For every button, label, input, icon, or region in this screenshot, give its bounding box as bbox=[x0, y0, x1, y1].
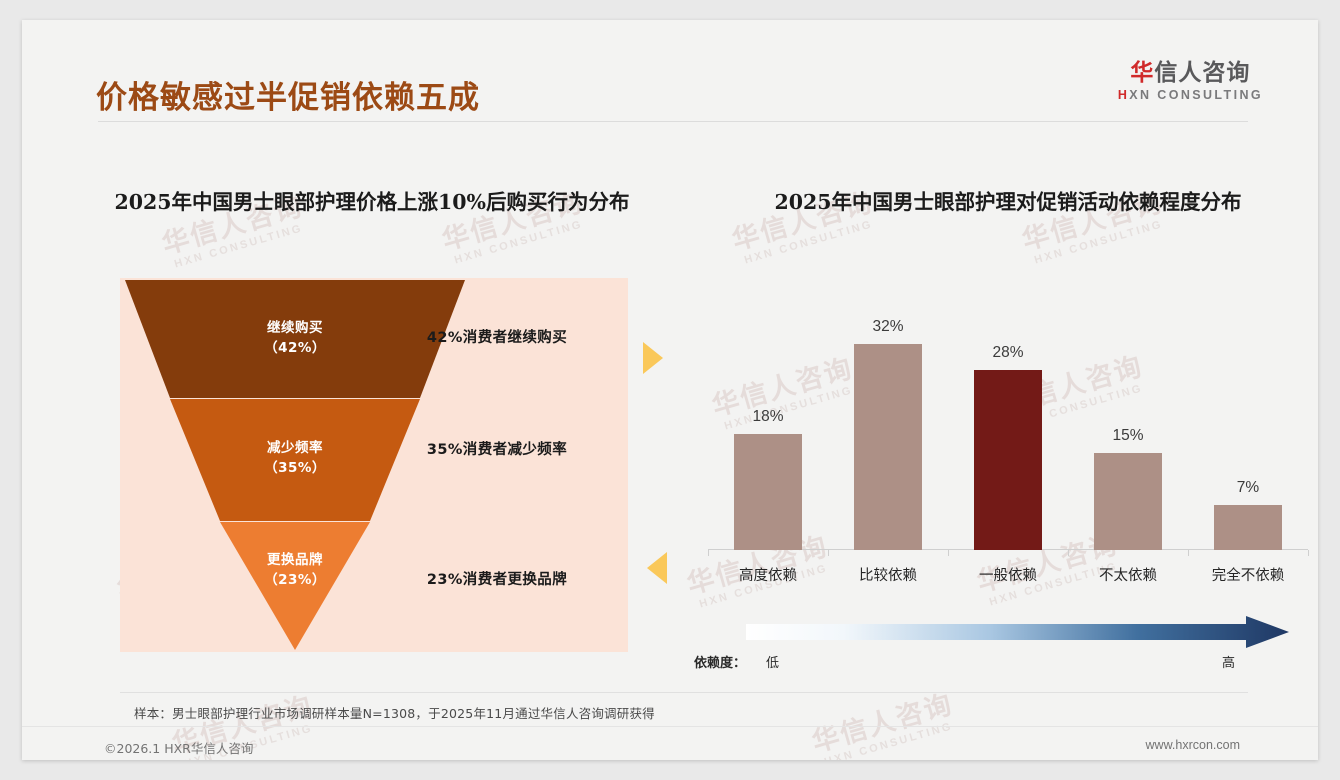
bar-group: 32% 比较依赖 bbox=[828, 318, 948, 550]
axis-tick bbox=[948, 550, 949, 556]
bar-value-0: 18% bbox=[752, 408, 783, 426]
logo-english-rest: XN CONSULTING bbox=[1129, 88, 1263, 102]
company-logo: 华信人咨询 HXN CONSULTING bbox=[1118, 60, 1263, 102]
bar-value-2: 28% bbox=[992, 344, 1023, 362]
slide-header: 价格敏感过半促销依赖五成 华信人咨询 HXN CONSULTING bbox=[22, 20, 1318, 118]
funnel-label-1: 继续购买 （42%） bbox=[210, 318, 380, 359]
footnote-text: 样本：男士眼部护理行业市场调研样本量N=1308，于2025年11月通过华信人咨… bbox=[134, 703, 655, 722]
bar-category-2: 一般依赖 bbox=[979, 564, 1037, 585]
bar-rect-4[interactable] bbox=[1214, 505, 1282, 550]
watermark-line2: HXN CONSULTING bbox=[167, 221, 310, 273]
bar-value-1: 32% bbox=[872, 318, 903, 336]
logo-chinese-red: 华 bbox=[1130, 59, 1154, 85]
axis-tick bbox=[708, 550, 709, 556]
slide-footer: ©2026.1 HXR华信人咨询 www.hxrcon.com bbox=[22, 726, 1318, 760]
header-divider bbox=[98, 121, 1248, 122]
funnel-annotation-3: 23%消费者更换品牌 bbox=[372, 568, 622, 589]
bar-group: 18% 高度依赖 bbox=[708, 318, 828, 550]
left-chart-title: 2025年中国男士眼部护理价格上涨10%后购买行为分布 bbox=[62, 188, 682, 218]
bar-rect-0[interactable] bbox=[734, 434, 802, 550]
copyright-text: ©2026.1 HXR华信人咨询 bbox=[104, 738, 253, 757]
axis-tick bbox=[1068, 550, 1069, 556]
bar-rect-3[interactable] bbox=[1094, 453, 1162, 550]
watermark-line2: HXN CONSULTING bbox=[737, 217, 880, 269]
funnel-chart: 继续购买 （42%） 减少频率 （35%） 更换品牌 （23%） 42%消费者继… bbox=[120, 278, 628, 652]
axis-tick bbox=[828, 550, 829, 556]
bar-group: 28% 一般依赖 bbox=[948, 318, 1068, 550]
funnel-label-3-name: 更换品牌 bbox=[267, 552, 323, 568]
funnel-label-1-pct: （42%） bbox=[264, 340, 326, 356]
website-link[interactable]: www.hxrcon.com bbox=[1146, 738, 1240, 752]
funnel-label-2-pct: （35%） bbox=[264, 460, 326, 476]
legend-label: 依赖度： bbox=[694, 652, 746, 671]
logo-english: HXN CONSULTING bbox=[1118, 88, 1263, 102]
funnel-label-2-name: 减少频率 bbox=[267, 440, 323, 456]
funnel-label-1-name: 继续购买 bbox=[267, 320, 323, 336]
legend-low-label: 低 bbox=[766, 652, 779, 671]
bar-rect-1[interactable] bbox=[854, 344, 922, 550]
logo-english-red: H bbox=[1118, 88, 1129, 102]
bar-category-3: 不太依赖 bbox=[1099, 564, 1157, 585]
play-triangle-left-icon bbox=[644, 550, 670, 586]
bar-group: 7% 完全不依赖 bbox=[1188, 318, 1308, 550]
page-title: 价格敏感过半促销依赖五成 bbox=[96, 72, 480, 117]
bar-value-4: 7% bbox=[1237, 479, 1259, 497]
bar-category-0: 高度依赖 bbox=[739, 564, 797, 585]
watermark-line2: HXN CONSULTING bbox=[1027, 217, 1170, 269]
logo-chinese-rest: 信人咨询 bbox=[1154, 59, 1250, 85]
bar-group: 15% 不太依赖 bbox=[1068, 318, 1188, 550]
gradient-arrow-icon bbox=[746, 616, 1291, 650]
bar-chart: 18% 高度依赖 32% 比较依赖 28% 一般依赖 15% 不太依赖 7% 完… bbox=[694, 276, 1318, 596]
funnel-label-3: 更换品牌 （23%） bbox=[210, 550, 380, 591]
slide-canvas: 华信人咨询 HXN CONSULTING 华信人咨询 HXN CONSULTIN… bbox=[22, 20, 1318, 760]
axis-tick bbox=[1308, 550, 1309, 556]
bar-category-4: 完全不依赖 bbox=[1212, 564, 1285, 585]
funnel-annotation-1: 42%消费者继续购买 bbox=[372, 326, 622, 347]
play-triangle-right-icon bbox=[640, 340, 666, 376]
watermark-line2: HXN CONSULTING bbox=[447, 217, 590, 269]
dependency-gradient-legend: 依赖度： 低 高 bbox=[694, 612, 1318, 678]
legend-high-label: 高 bbox=[1222, 652, 1235, 671]
bar-value-3: 15% bbox=[1112, 427, 1143, 445]
footnote-divider bbox=[120, 692, 1248, 693]
bar-category-1: 比较依赖 bbox=[859, 564, 917, 585]
right-chart-title: 2025年中国男士眼部护理对促销活动依赖程度分布 bbox=[694, 188, 1318, 218]
funnel-label-2: 减少频率 （35%） bbox=[210, 438, 380, 479]
funnel-annotation-2: 35%消费者减少频率 bbox=[372, 438, 622, 459]
axis-tick bbox=[1188, 550, 1189, 556]
funnel-label-3-pct: （23%） bbox=[264, 572, 326, 588]
logo-chinese: 华信人咨询 bbox=[1118, 60, 1263, 85]
bar-rect-2[interactable] bbox=[974, 370, 1042, 550]
